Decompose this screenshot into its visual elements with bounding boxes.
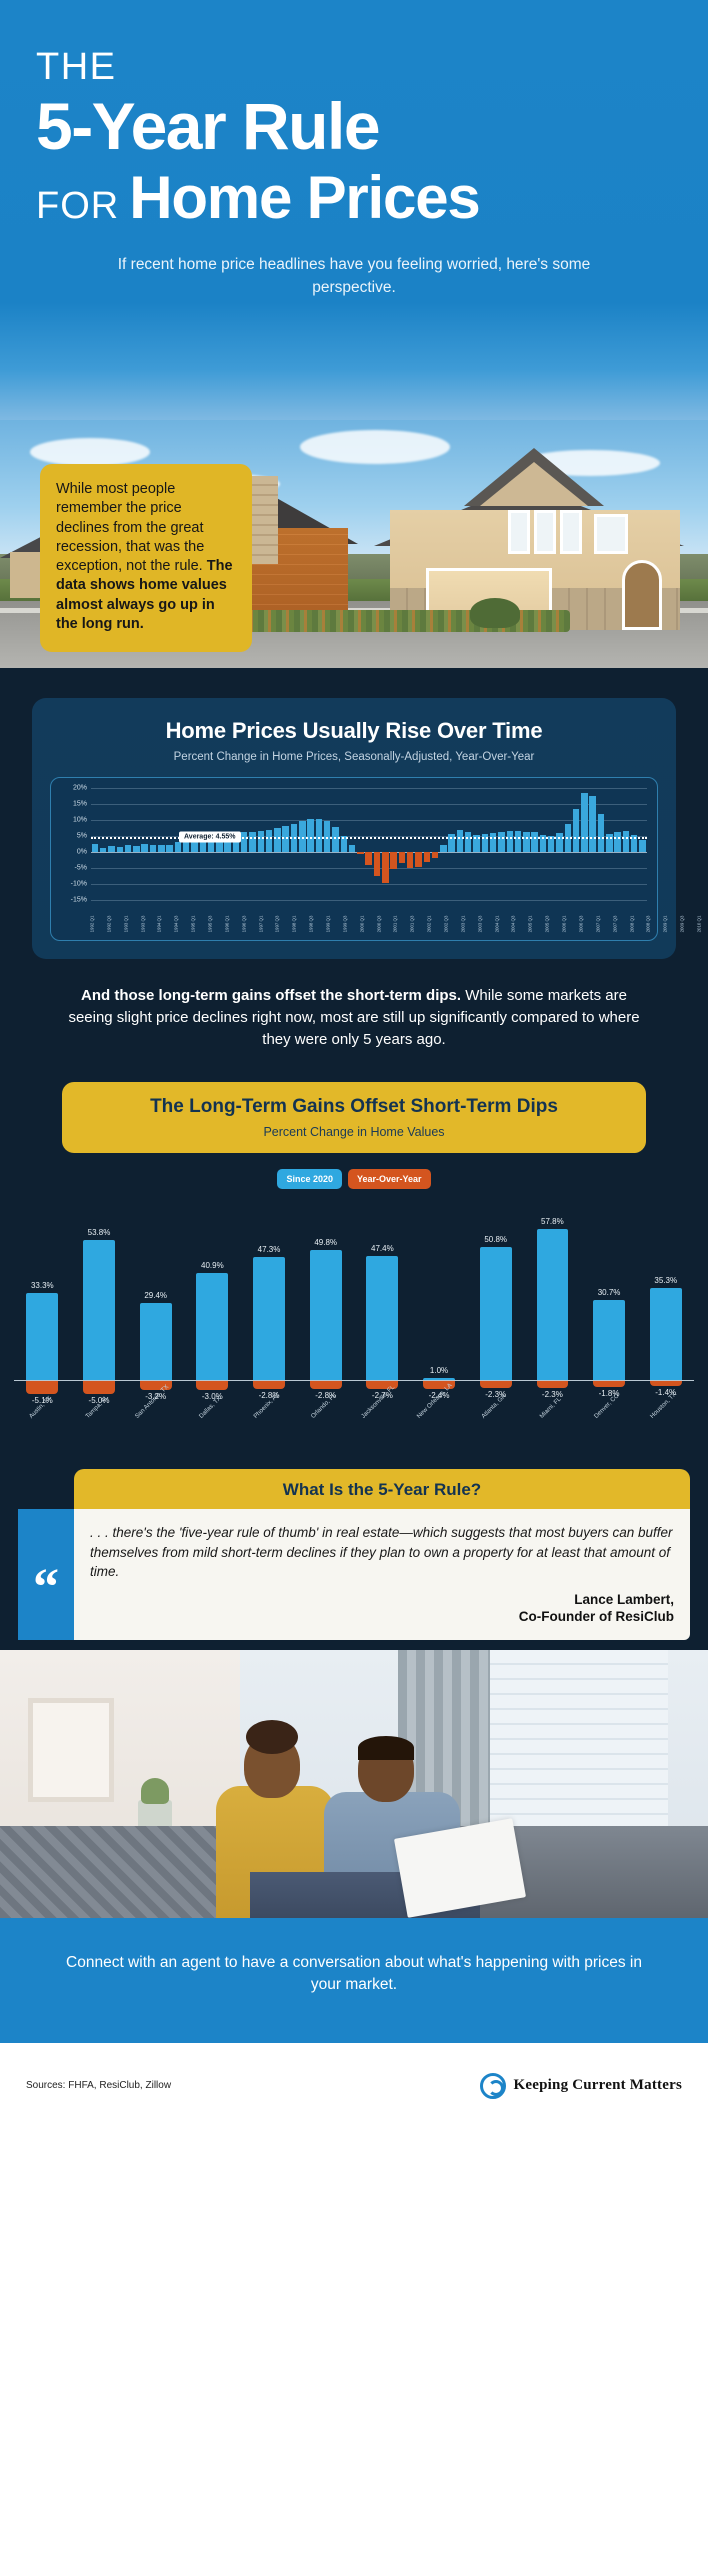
since-2020-value-label: 1.0% (411, 1366, 468, 1375)
hero-title-line3: FOR Home Prices (36, 163, 672, 232)
city-label: San Antonio, TX (127, 1409, 184, 1445)
since-2020-value-label: 57.8% (524, 1217, 581, 1226)
since-2020-value-label: 50.8% (467, 1235, 524, 1244)
since-2020-bar (83, 1240, 115, 1381)
city-bar-column: 33.3% (14, 1195, 71, 1380)
since-2020-bar (253, 1257, 285, 1381)
quote-attribution: Lance Lambert, Co-Founder of ResiClub (90, 1591, 674, 1626)
average-dotted-line (91, 837, 647, 839)
timeseries-bar (265, 788, 273, 900)
timeseries-bar (232, 788, 240, 900)
city-bar-column: 30.7% (581, 1195, 638, 1380)
city-bar-column: 47.3% (241, 1195, 298, 1380)
year-over-year-bar (480, 1381, 512, 1388)
city-bar-column: 35.3% (637, 1195, 694, 1380)
timeseries-bar (332, 788, 340, 900)
timeseries-bar (124, 788, 132, 900)
timeseries-bar (207, 788, 215, 900)
since-2020-bar (310, 1250, 342, 1380)
y-tick-label: 20% (73, 785, 87, 792)
plot-frame: 20%15%10%5%0%-5%-10%-15% Average: 4.55% … (50, 777, 658, 941)
year-over-year-bar (83, 1381, 115, 1394)
quote-body: “ . . . there's the 'five-year rule of t… (18, 1509, 690, 1640)
hero-title-main: 5-Year Rule (36, 92, 672, 161)
timeseries-bar (564, 788, 572, 900)
city-labels-row: Austin, TXTampa, FLSan Antonio, TXDallas… (14, 1409, 694, 1445)
year-over-year-bar (26, 1381, 58, 1394)
timeseries-bars (91, 788, 647, 900)
chart-legend: Since 2020 Year-Over-Year (0, 1169, 708, 1189)
since-2020-bar (650, 1288, 682, 1380)
timeseries-bar (498, 788, 506, 900)
city-bar-column: 29.4% (127, 1195, 184, 1380)
timeseries-bar (481, 788, 489, 900)
hero-subtitle: If recent home price headlines have you … (36, 254, 672, 299)
since-2020-value-label: 40.9% (184, 1261, 241, 1270)
chart-title: Home Prices Usually Rise Over Time (50, 718, 658, 744)
timeseries-bar (116, 788, 124, 900)
house-primary (368, 448, 698, 630)
timeseries-bar (357, 788, 365, 900)
city-label: New Orleans, LA (411, 1409, 468, 1445)
timeseries-bar (622, 788, 630, 900)
timeseries-bar (274, 788, 282, 900)
since-2020-bar (480, 1247, 512, 1380)
y-tick-label: 0% (77, 849, 87, 856)
brand-logo: Keeping Current Matters (480, 2073, 682, 2099)
line-chart-card: Home Prices Usually Rise Over Time Perce… (32, 698, 676, 959)
quote-text: . . . there's the 'five-year rule of thu… (90, 1523, 674, 1580)
callout-text-regular: While most people remember the price dec… (56, 481, 207, 574)
positive-bars-row: 33.3%53.8%29.4%40.9%47.3%49.8%47.4%1.0%5… (14, 1195, 694, 1380)
since-2020-bar (26, 1293, 58, 1380)
x-tick-label: 2010 Q1 (696, 916, 708, 933)
timeseries-bar (108, 788, 116, 900)
year-over-year-bar (593, 1381, 625, 1387)
city-bar-chart: 33.3%53.8%29.4%40.9%47.3%49.8%47.4%1.0%5… (14, 1195, 694, 1445)
since-2020-value-label: 30.7% (581, 1288, 638, 1297)
dark-section: Home Prices Usually Rise Over Time Perce… (0, 668, 708, 1650)
timeseries-bar (456, 788, 464, 900)
quote-text-panel: . . . there's the 'five-year rule of thu… (74, 1509, 690, 1640)
timeseries-bar (589, 788, 597, 900)
since-2020-value-label: 33.3% (14, 1281, 71, 1290)
timeseries-bar (489, 788, 497, 900)
timeseries-bar (547, 788, 555, 900)
quote-author-name: Lance Lambert, (90, 1591, 674, 1609)
hero-title-second: Home Prices (129, 163, 479, 232)
couple-photo (0, 1650, 708, 1918)
city-label: Jacksonville, FL (354, 1409, 411, 1445)
timeseries-plot: 20%15%10%5%0%-5%-10%-15% Average: 4.55% (59, 788, 649, 900)
kcm-logo-icon (480, 2073, 506, 2099)
timeseries-bar (182, 788, 190, 900)
timeseries-bar (249, 788, 257, 900)
footer: Sources: FHFA, ResiClub, Zillow Keeping … (0, 2043, 708, 2129)
x-axis-labels: 1992 Q11992 Q31993 Q11993 Q31994 Q11994 … (91, 900, 647, 934)
sources-text: Sources: FHFA, ResiClub, Zillow (26, 2080, 171, 2091)
city-label: Atlanta, GA (467, 1409, 524, 1445)
timeseries-bar (323, 788, 331, 900)
neighborhood-photo: While most people remember the price dec… (0, 420, 708, 668)
year-over-year-value-label: -1.4% (637, 1388, 694, 1397)
blanket (0, 1826, 240, 1918)
timeseries-bar (406, 788, 414, 900)
y-axis-labels: 20%15%10%5%0%-5%-10%-15% (59, 788, 89, 900)
hero-section: THE 5-Year Rule FOR Home Prices If recen… (0, 0, 708, 420)
legend-item-since-2020: Since 2020 (277, 1169, 342, 1189)
since-2020-value-label: 47.3% (241, 1245, 298, 1254)
timeseries-bar (614, 788, 622, 900)
timeseries-bar (99, 788, 107, 900)
year-over-year-bar (196, 1381, 228, 1390)
timeseries-bar (448, 788, 456, 900)
since-2020-value-label: 53.8% (71, 1228, 128, 1237)
y-tick-label: -10% (71, 881, 87, 888)
city-bar-column: 1.0% (411, 1195, 468, 1380)
timeseries-bar (282, 788, 290, 900)
timeseries-bar (423, 788, 431, 900)
timeseries-bar (464, 788, 472, 900)
cta-section: Connect with an agent to have a conversa… (0, 1918, 708, 2043)
since-2020-bar (196, 1273, 228, 1380)
since-2020-bar (593, 1300, 625, 1380)
cloud-icon (30, 438, 150, 466)
y-tick-label: -15% (71, 897, 87, 904)
yellow-banner-title: The Long-Term Gains Offset Short-Term Di… (82, 1096, 626, 1119)
timeseries-bar (215, 788, 223, 900)
timeseries-bar (149, 788, 157, 900)
dark-paragraph-bold: And those long-term gains offset the sho… (81, 987, 461, 1004)
timeseries-bar (381, 788, 389, 900)
year-over-year-bar (253, 1381, 285, 1389)
timeseries-bar (157, 788, 165, 900)
hero-for-word: FOR (36, 185, 119, 228)
since-2020-bar (537, 1229, 569, 1380)
y-tick-label: 5% (77, 833, 87, 840)
timeseries-bar (531, 788, 539, 900)
timeseries-bar (556, 788, 564, 900)
timeseries-bar (290, 788, 298, 900)
since-2020-value-label: 29.4% (127, 1291, 184, 1300)
city-label: Orlando, FL (297, 1409, 354, 1445)
city-label: Dallas, TX (184, 1409, 241, 1445)
timeseries-bar (298, 788, 306, 900)
timeseries-bar (630, 788, 638, 900)
timeseries-bar (166, 788, 174, 900)
timeseries-bar (431, 788, 439, 900)
timeseries-bar (597, 788, 605, 900)
since-2020-value-label: 47.4% (354, 1244, 411, 1253)
timeseries-bar (240, 788, 248, 900)
yellow-banner-subtitle: Percent Change in Home Values (82, 1125, 626, 1139)
timeseries-bar (199, 788, 207, 900)
timeseries-bar (191, 788, 199, 900)
city-bar-column: 50.8% (467, 1195, 524, 1380)
since-2020-value-label: 35.3% (637, 1276, 694, 1285)
wall-art (28, 1698, 114, 1802)
timeseries-bar (365, 788, 373, 900)
city-bar-column: 47.4% (354, 1195, 411, 1380)
year-over-year-bar (650, 1381, 682, 1386)
city-label: Phoenix, AZ (241, 1409, 298, 1445)
y-tick-label: 15% (73, 801, 87, 808)
dark-paragraph: And those long-term gains offset the sho… (0, 959, 708, 1050)
timeseries-bar (639, 788, 647, 900)
city-bar-column: 53.8% (71, 1195, 128, 1380)
timeseries-bar (390, 788, 398, 900)
since-2020-bar (140, 1303, 172, 1380)
timeseries-bar (141, 788, 149, 900)
city-label: Austin, TX (14, 1409, 71, 1445)
timeseries-bar (307, 788, 315, 900)
quote-author-title: Co-Founder of ResiClub (90, 1608, 674, 1626)
year-over-year-bar (310, 1381, 342, 1389)
timeseries-bar (506, 788, 514, 900)
timeseries-bar (398, 788, 406, 900)
timeseries-bar (572, 788, 580, 900)
timeseries-bar (224, 788, 232, 900)
infographic-page: THE 5-Year Rule FOR Home Prices If recen… (0, 0, 708, 2560)
timeseries-bar (522, 788, 530, 900)
timeseries-bar (473, 788, 481, 900)
brand-name: Keeping Current Matters (514, 2077, 682, 2094)
city-bar-column: 40.9% (184, 1195, 241, 1380)
timeseries-bar (605, 788, 613, 900)
bush (470, 598, 520, 628)
timeseries-bar (315, 788, 323, 900)
negative-bars-row: -5.1%-5.0%-3.2%-3.0%-2.8%-2.8%-2.7%-2.4%… (14, 1381, 694, 1409)
city-bar-column: 57.8% (524, 1195, 581, 1380)
quote-header: What Is the 5-Year Rule? (74, 1469, 690, 1509)
timeseries-bar (581, 788, 589, 900)
since-2020-bar (366, 1256, 398, 1380)
timeseries-bar (174, 788, 182, 900)
legend-item-year-over-year: Year-Over-Year (348, 1169, 431, 1189)
y-tick-label: 10% (73, 817, 87, 824)
timeseries-bar (132, 788, 140, 900)
timeseries-bar (514, 788, 522, 900)
callout-box: While most people remember the price dec… (40, 464, 252, 652)
timeseries-bar (257, 788, 265, 900)
since-2020-value-label: 49.8% (297, 1238, 354, 1247)
quote-block: What Is the 5-Year Rule? “ . . . there's… (18, 1469, 690, 1650)
yellow-banner: The Long-Term Gains Offset Short-Term Di… (62, 1082, 646, 1153)
timeseries-bar (439, 788, 447, 900)
year-over-year-bar (537, 1381, 569, 1388)
city-bar-column: 49.8% (297, 1195, 354, 1380)
year-over-year-value-label: -2.3% (524, 1390, 581, 1399)
timeseries-bar (373, 788, 381, 900)
timeseries-bar (340, 788, 348, 900)
hero-eyebrow: THE (36, 48, 672, 86)
average-badge: Average: 4.55% (179, 832, 241, 843)
city-label: Denver, CO (581, 1409, 638, 1445)
timeseries-bar (539, 788, 547, 900)
timeseries-bar (91, 788, 99, 900)
timeseries-bar (415, 788, 423, 900)
chart-subtitle: Percent Change in Home Prices, Seasonall… (50, 751, 658, 763)
city-label: Tampa, FL (71, 1409, 128, 1445)
quote-mark-icon: “ (18, 1509, 74, 1640)
y-tick-label: -5% (75, 865, 87, 872)
city-label: Houston, TX (637, 1409, 694, 1445)
city-label: Miami, FL (524, 1409, 581, 1445)
timeseries-bar (348, 788, 356, 900)
